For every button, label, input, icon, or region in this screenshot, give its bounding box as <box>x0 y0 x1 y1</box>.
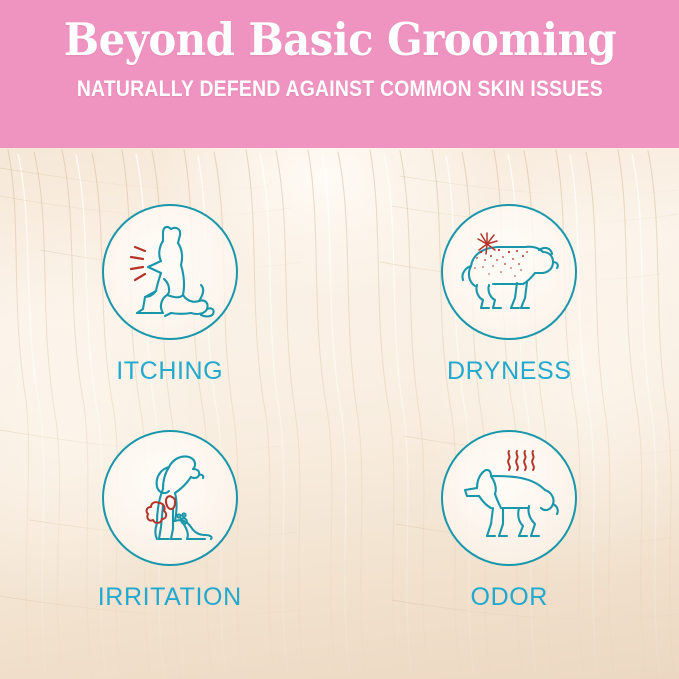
page-subtitle: NATURALLY DEFEND AGAINST COMMON SKIN ISS… <box>76 76 602 102</box>
benefit-item-dryness[interactable]: DRYNESS <box>340 204 679 430</box>
dog-flaky-skin-icon <box>441 204 577 340</box>
benefit-label-dryness: DRYNESS <box>447 357 572 386</box>
header-band: Beyond Basic Grooming NATURALLY DEFEND A… <box>0 0 679 148</box>
benefit-item-itching[interactable]: ITCHING <box>0 204 340 430</box>
benefit-item-odor[interactable]: ODOR <box>340 430 679 656</box>
dog-irritated-patches-icon <box>102 430 238 566</box>
benefit-label-odor: ODOR <box>471 583 548 612</box>
page-title: Beyond Basic Grooming <box>63 17 615 63</box>
dog-scratching-icon <box>102 204 238 340</box>
dog-odor-icon <box>441 430 577 566</box>
benefit-item-irritation[interactable]: IRRITATION <box>0 430 340 656</box>
benefit-label-itching: ITCHING <box>116 357 223 386</box>
grooming-infographic: Beyond Basic Grooming NATURALLY DEFEND A… <box>0 0 679 679</box>
benefit-label-irritation: IRRITATION <box>98 583 242 612</box>
benefit-grid: ITCHING <box>0 148 679 679</box>
